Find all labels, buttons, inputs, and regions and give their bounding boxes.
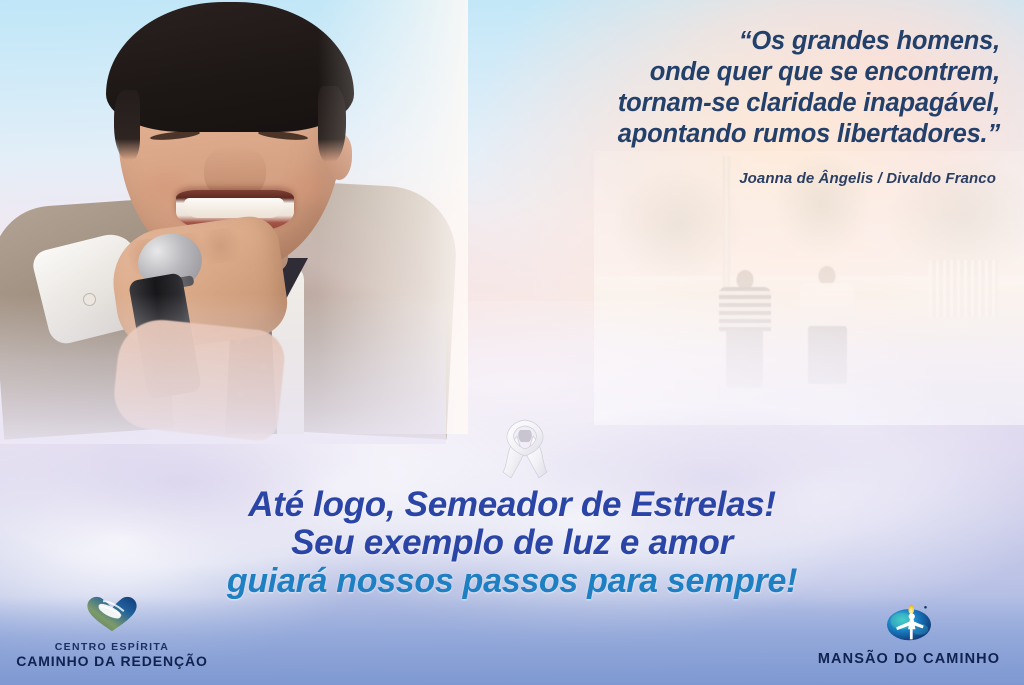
quote-block: “Os grandes homens, onde quer que se enc… [440, 26, 1000, 150]
headline-line-2: Seu exemplo de luz e amor [0, 524, 1024, 562]
headline-block: Até logo, Semeador de Estrelas! Seu exem… [0, 486, 1024, 600]
quote-line-3: tornam-se claridade inapagável, [440, 88, 1000, 119]
portrait-photo [0, 0, 458, 434]
quote-line-2: onde quer que se encontrem, [440, 57, 1000, 88]
globe-figure-flame-icon [804, 599, 1014, 648]
logo-mansao-do-caminho: MANSÃO DO CAMINHO [804, 599, 1014, 667]
sideburn-left [114, 90, 140, 160]
logo-left-line-2: CAMINHO DA REDENÇÃO [12, 653, 212, 669]
logo-centro-espirita: CENTRO ESPÍRITA CAMINHO DA REDENÇÃO [12, 593, 212, 669]
quote-attribution: Joanna de Ângelis / Divaldo Franco [739, 170, 996, 187]
teeth [184, 198, 284, 218]
hands-heart-icon [12, 593, 212, 638]
logo-right-line-2: MANSÃO DO CAMINHO [804, 651, 1014, 667]
quote-line-4: apontando rumos libertadores.” [440, 119, 1000, 150]
quote-line-1: “Os grandes homens, [440, 26, 1000, 57]
headline-line-1: Até logo, Semeador de Estrelas! [0, 486, 1024, 524]
portrait-bottom-fade [0, 294, 446, 444]
logo-left-line-1: CENTRO ESPÍRITA [12, 641, 212, 653]
memorial-poster: “Os grandes homens, onde quer que se enc… [0, 0, 1024, 685]
hair [106, 2, 354, 132]
white-mourning-ribbon-icon [487, 412, 563, 488]
